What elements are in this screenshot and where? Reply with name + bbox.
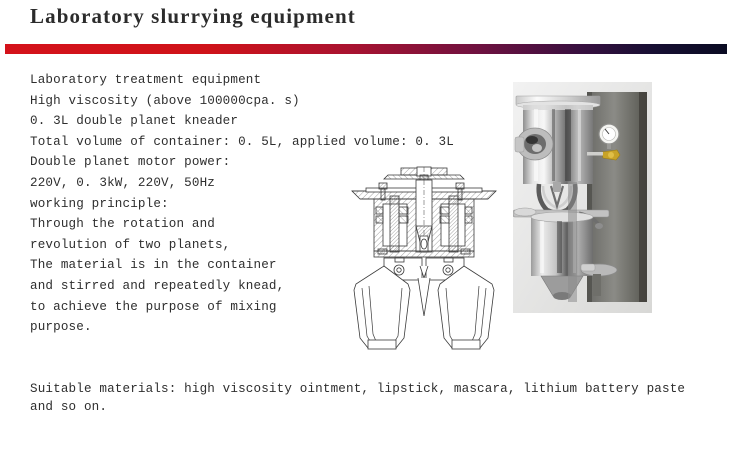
spec-line: Total volume of container: 0. 5L, applie…: [30, 132, 360, 153]
spec-line: 220V, 0. 3kW, 220V, 50Hz: [30, 173, 360, 194]
slide-canvas: Laboratory slurrying equipment Laborator…: [0, 0, 730, 450]
spec-line: High viscosity (above 100000cpa. s): [30, 91, 360, 112]
spec-line: and stirred and repeatedly knead,: [30, 276, 360, 297]
footer-line: Suitable materials: high viscosity ointm…: [30, 381, 702, 399]
spec-line: Laboratory treatment equipment: [30, 70, 360, 91]
footer-line: and so on.: [30, 399, 702, 417]
footer-text-block: Suitable materials: high viscosity ointm…: [30, 381, 702, 416]
spec-line: to achieve the purpose of mixing: [30, 297, 360, 318]
product-photo: [513, 82, 652, 313]
gradient-divider: [5, 44, 727, 54]
spec-line: revolution of two planets,: [30, 235, 360, 256]
spec-line: purpose.: [30, 317, 360, 338]
page-title: Laboratory slurrying equipment: [30, 4, 356, 29]
spec-line: Double planet motor power:: [30, 152, 360, 173]
spec-line: The material is in the container: [30, 255, 360, 276]
spec-line: 0. 3L double planet kneader: [30, 111, 360, 132]
spec-line: working principle:: [30, 194, 360, 215]
specification-text-block: Laboratory treatment equipment High visc…: [30, 70, 360, 338]
technical-drawing: [338, 166, 510, 362]
spec-line: Through the rotation and: [30, 214, 360, 235]
